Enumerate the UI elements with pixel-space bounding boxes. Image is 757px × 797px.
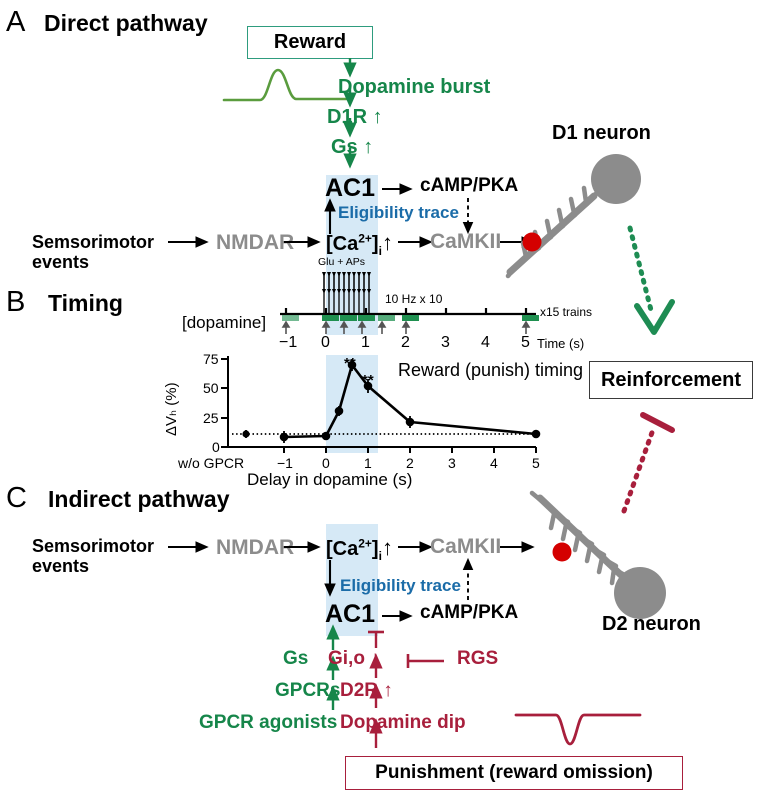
dopamine-bracket-label: [dopamine] [182, 313, 266, 333]
calcium-bracket-a: ] [372, 233, 379, 255]
panel-c-title: Indirect pathway [48, 488, 229, 511]
chart-ytick-50: 50 [203, 380, 219, 396]
timeline-tick-m1: −1 [279, 334, 297, 352]
rgs-label: RGS [457, 648, 498, 670]
chart-xtick-5: 5 [532, 455, 540, 471]
nmdar-label-c: NMDAR [216, 536, 294, 560]
d1-neuron-label: D1 neuron [552, 122, 651, 145]
punishment-box[interactable]: Punishment (reward omission) [345, 756, 683, 790]
gio-label: Gi,o ↓ [328, 648, 380, 670]
chart-xtick-0: 0 [322, 455, 330, 471]
camkii-label-c: CaMKII [430, 535, 501, 559]
ac1-label-c: AC1 [325, 600, 375, 629]
gs-label-c: Gs [283, 648, 308, 670]
calcium-sup-a: 2+ [358, 231, 372, 245]
camkii-label-a: CaMKII [430, 230, 501, 254]
chart-xlabel: Delay in dopamine (s) [247, 470, 412, 490]
glu-aps-label-a: Glu + APs [318, 256, 365, 268]
sensorimotor-label-a: Semsorimotor events [32, 232, 154, 272]
significance-star-2: ** [362, 372, 374, 389]
ac1-to-camp-arrow-c [382, 608, 418, 624]
ac1-to-camp-arrow-a [382, 181, 418, 197]
d1r-label: D1R ↑ [327, 106, 383, 129]
calcium-sup-c: 2+ [358, 536, 372, 550]
ac1-label-a: AC1 [325, 174, 375, 203]
rgs-inhibition-connector [402, 650, 452, 672]
panel-a-title: Direct pathway [44, 12, 208, 35]
panel-b-title: Timing [48, 292, 123, 315]
timeline-tick-5: 5 [521, 334, 530, 352]
eligibility-trace-label-c: Eligibility trace [340, 576, 461, 596]
chart-ytick-75: 75 [203, 351, 219, 367]
camp-to-camkii-dashed-arrow-c [460, 558, 480, 604]
sensorimotor-line1-a: Semsorimotor [32, 232, 154, 252]
calcium-text-c: [Ca [326, 538, 358, 560]
dopamine-dip-waveform [514, 706, 644, 748]
panel-c-letter: C [6, 484, 27, 513]
dopamine-burst-label: Dopamine burst [338, 76, 490, 99]
dopamine-dip-label: Dopamine dip [340, 712, 466, 734]
calcium-up-arrow-a: ↑ [382, 230, 393, 255]
panel-a-letter: A [6, 8, 25, 37]
timeline-tick-2: 2 [401, 334, 410, 352]
sensorimotor-line2-a: events [32, 252, 154, 272]
chart-xtick-1: 1 [364, 455, 372, 471]
punishment-box-label: Punishment (reward omission) [375, 762, 653, 784]
time-axis-label: Time (s) [537, 336, 584, 351]
calcium-to-ac1-arrow-c [322, 560, 342, 602]
panel-b-letter: B [6, 288, 25, 317]
gpcr-agonists-label: GPCR agonists [199, 712, 337, 734]
sensorimotor-to-nmdar-arrow-a [168, 234, 214, 250]
nmdar-to-calcium-arrow-a [284, 234, 326, 250]
sensorimotor-to-nmdar-arrow-c [168, 539, 214, 555]
chart-xtick-3: 3 [448, 455, 456, 471]
chart-ytick-25: 25 [203, 410, 219, 426]
eligibility-trace-label-a: Eligibility trace [338, 203, 459, 223]
reward-timing-label: Reward (punish) timing [398, 360, 583, 381]
chart-ylabel: ΔVₕ (%) [148, 304, 166, 358]
timeline-tick-3: 3 [441, 334, 450, 352]
calcium-label-a: [Ca2+]i↑ [326, 230, 393, 258]
gs-label-a: Gs ↑ [331, 136, 373, 159]
chart-control-label: w/o GPCR [178, 455, 244, 471]
timeline-tick-4: 4 [481, 334, 490, 352]
reward-box[interactable]: Reward [247, 26, 373, 59]
chart-xtick-m1: −1 [277, 455, 293, 471]
sensorimotor-line2-c: events [32, 556, 154, 576]
sensorimotor-line1-c: Semsorimotor [32, 536, 154, 556]
reinforcement-box-label: Reinforcement [601, 369, 741, 392]
reward-box-label: Reward [274, 31, 346, 54]
trains-count-label: x15 trains [540, 305, 592, 319]
chart-xtick-2: 2 [406, 455, 414, 471]
calcium-label-c: [Ca2+]i↑ [326, 535, 393, 563]
nmdar-label-a: NMDAR [216, 231, 294, 255]
d2-neuron-drawing [522, 490, 682, 620]
timeline-tick-1: 1 [361, 334, 370, 352]
sensorimotor-label-c: Semsorimotor events [32, 536, 154, 576]
gpcrs-label: GPCRs [275, 680, 340, 702]
stim-protocol-label: 10 Hz x 10 [385, 292, 442, 306]
significance-star-1: ** [344, 355, 356, 372]
d2r-label: D2R ↑ [340, 680, 393, 702]
nmdar-to-calcium-arrow-c [284, 539, 326, 555]
timeline-tick-0: 0 [321, 334, 330, 352]
calcium-text-a: [Ca [326, 233, 358, 255]
reinforcement-box[interactable]: Reinforcement [589, 361, 753, 399]
camp-pka-label-c: cAMP/PKA [420, 602, 518, 624]
chart-ytick-0: 0 [212, 439, 220, 455]
chart-xtick-4: 4 [490, 455, 498, 471]
potentiation-arrow-green [620, 228, 690, 343]
